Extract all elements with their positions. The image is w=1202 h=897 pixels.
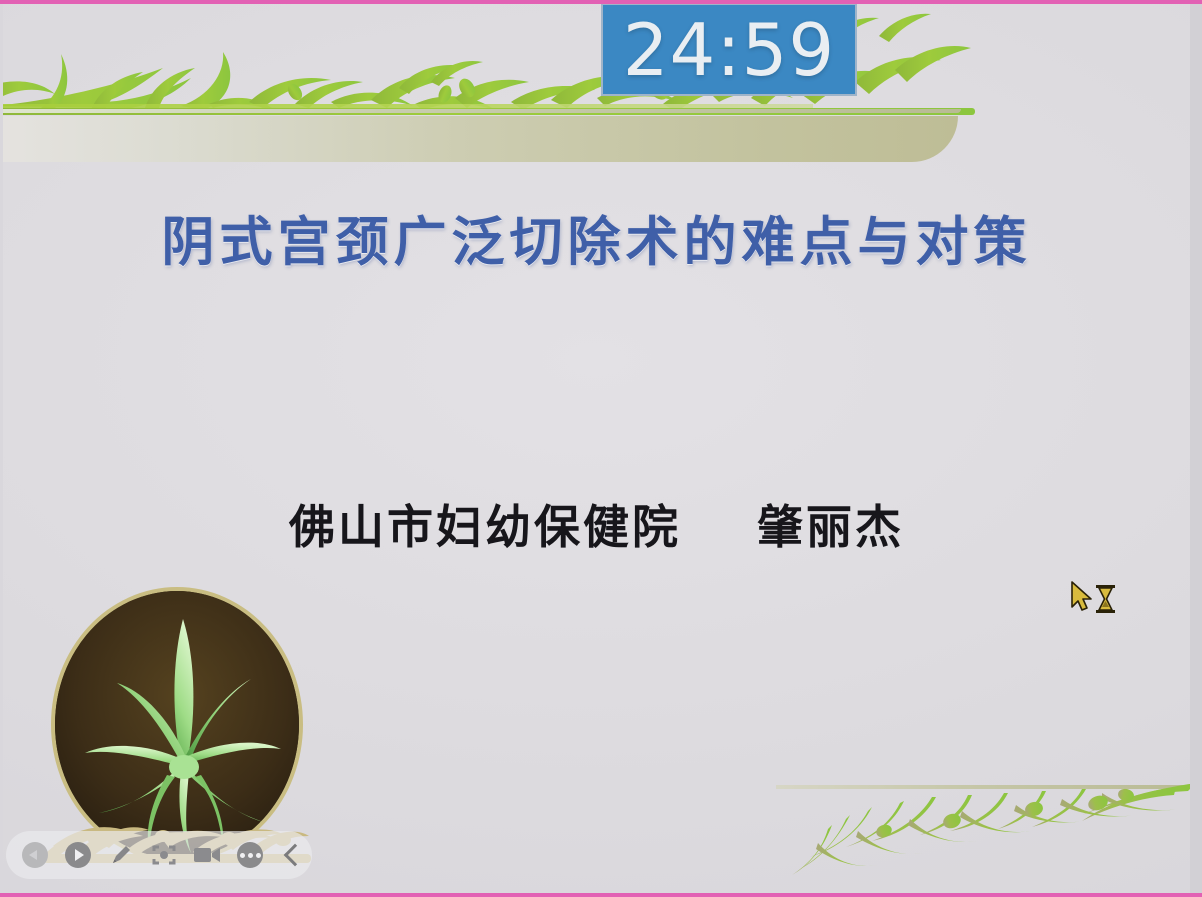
frame-border-top bbox=[0, 0, 1202, 4]
pen-icon bbox=[109, 843, 133, 867]
presentation-slide: 阴式宫颈广泛切除术的难点与对策 佛山市妇幼保健院 肇丽杰 bbox=[3, 4, 1190, 893]
more-dots-icon bbox=[237, 842, 263, 868]
video-player-screen: 阴式宫颈广泛切除术的难点与对策 佛山市妇幼保健院 肇丽杰 bbox=[0, 0, 1202, 897]
band-hairline bbox=[3, 109, 961, 113]
frame-border-right bbox=[1190, 0, 1202, 897]
more-button[interactable] bbox=[232, 835, 269, 875]
bottom-vine-icon bbox=[776, 773, 1190, 883]
video-camera-icon bbox=[193, 845, 221, 865]
hourglass-busy-icon bbox=[1096, 585, 1115, 613]
rewind-circle-icon bbox=[22, 842, 48, 868]
capture-frame-icon bbox=[151, 843, 177, 867]
play-button[interactable] bbox=[59, 835, 96, 875]
arrow-pointer-icon bbox=[1072, 582, 1091, 610]
play-circle-icon bbox=[65, 842, 91, 868]
video-toolbar[interactable] bbox=[6, 831, 312, 879]
collapse-button[interactable] bbox=[275, 835, 312, 875]
record-button[interactable] bbox=[189, 835, 226, 875]
mouse-cursor bbox=[1068, 580, 1120, 618]
band-green-line bbox=[3, 104, 813, 108]
band-olive bbox=[3, 116, 958, 162]
plant-photo bbox=[51, 587, 303, 862]
frame-border-left bbox=[0, 0, 3, 897]
screenshot-button[interactable] bbox=[145, 835, 182, 875]
countdown-timer-value: 24:59 bbox=[623, 14, 836, 86]
countdown-timer: 24:59 bbox=[601, 3, 857, 96]
chevron-left-icon bbox=[284, 844, 307, 867]
bottom-decoration bbox=[776, 773, 1190, 883]
rewind-button[interactable] bbox=[16, 835, 53, 875]
slide-presenter: 佛山市妇幼保健院 肇丽杰 bbox=[3, 491, 1190, 557]
annotate-button[interactable] bbox=[102, 835, 139, 875]
frame-border-bottom bbox=[0, 893, 1202, 897]
slide-title: 阴式宫颈广泛切除术的难点与对策 bbox=[3, 200, 1190, 276]
